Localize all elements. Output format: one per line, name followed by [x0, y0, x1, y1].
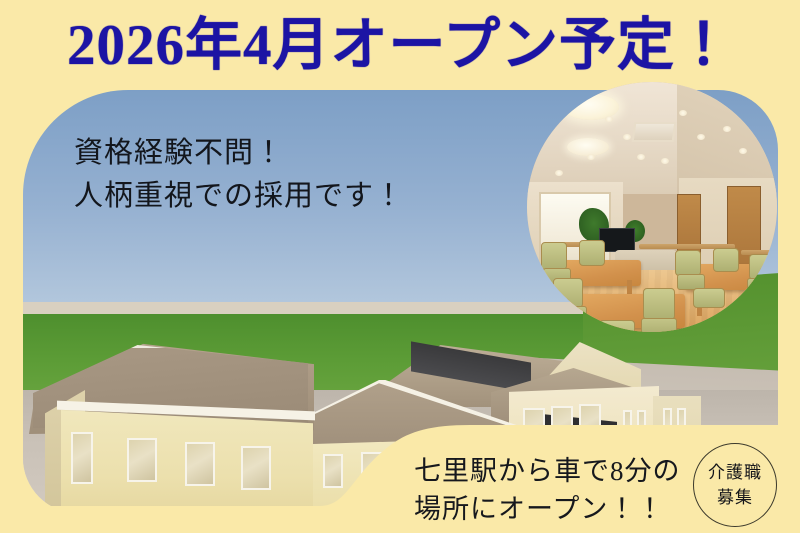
chair [641, 318, 677, 332]
badge-line1: 介護職 [708, 460, 762, 485]
chair [643, 288, 675, 320]
chair [553, 278, 583, 308]
chair [713, 248, 739, 272]
page-title: 2026年4月オープン予定！ [0, 8, 800, 84]
chair-leg [559, 322, 564, 332]
downlight-icon [637, 154, 645, 160]
status-badge: 介護職 募集 [693, 443, 777, 527]
downlight-icon [623, 134, 631, 140]
air-vent-icon [632, 122, 677, 142]
chair [747, 278, 777, 296]
interior-photo [527, 82, 777, 332]
recruit-message-line1: 資格経験不問！ [74, 132, 404, 175]
downlight-icon [605, 116, 613, 122]
chair [675, 250, 701, 276]
downlight-icon [739, 148, 747, 154]
badge-line2: 募集 [717, 485, 753, 510]
ceiling-light-icon [567, 138, 609, 156]
recruit-message-line2: 人柄重視での採用です！ [74, 175, 404, 218]
chair [541, 242, 567, 270]
chair [749, 254, 777, 280]
downlight-icon [723, 126, 731, 132]
downlight-icon [661, 158, 669, 164]
chair [579, 240, 605, 266]
chair [693, 288, 725, 308]
recruit-message: 資格経験不問！ 人柄重視での採用です！ [74, 132, 404, 218]
downlight-icon [555, 170, 563, 176]
downlight-icon [697, 134, 705, 140]
downlight-icon [679, 110, 687, 116]
location-message-line2: 場所にオープン！！ [414, 490, 681, 528]
poster-canvas: 2026年4月オープン予定！ [0, 0, 800, 533]
table-leg [581, 324, 587, 332]
downlight-icon [587, 154, 595, 160]
location-message: 七里駅から車で8分の 場所にオープン！！ [414, 452, 681, 528]
chair [599, 320, 635, 332]
location-message-line1: 七里駅から車で8分の [414, 452, 681, 490]
